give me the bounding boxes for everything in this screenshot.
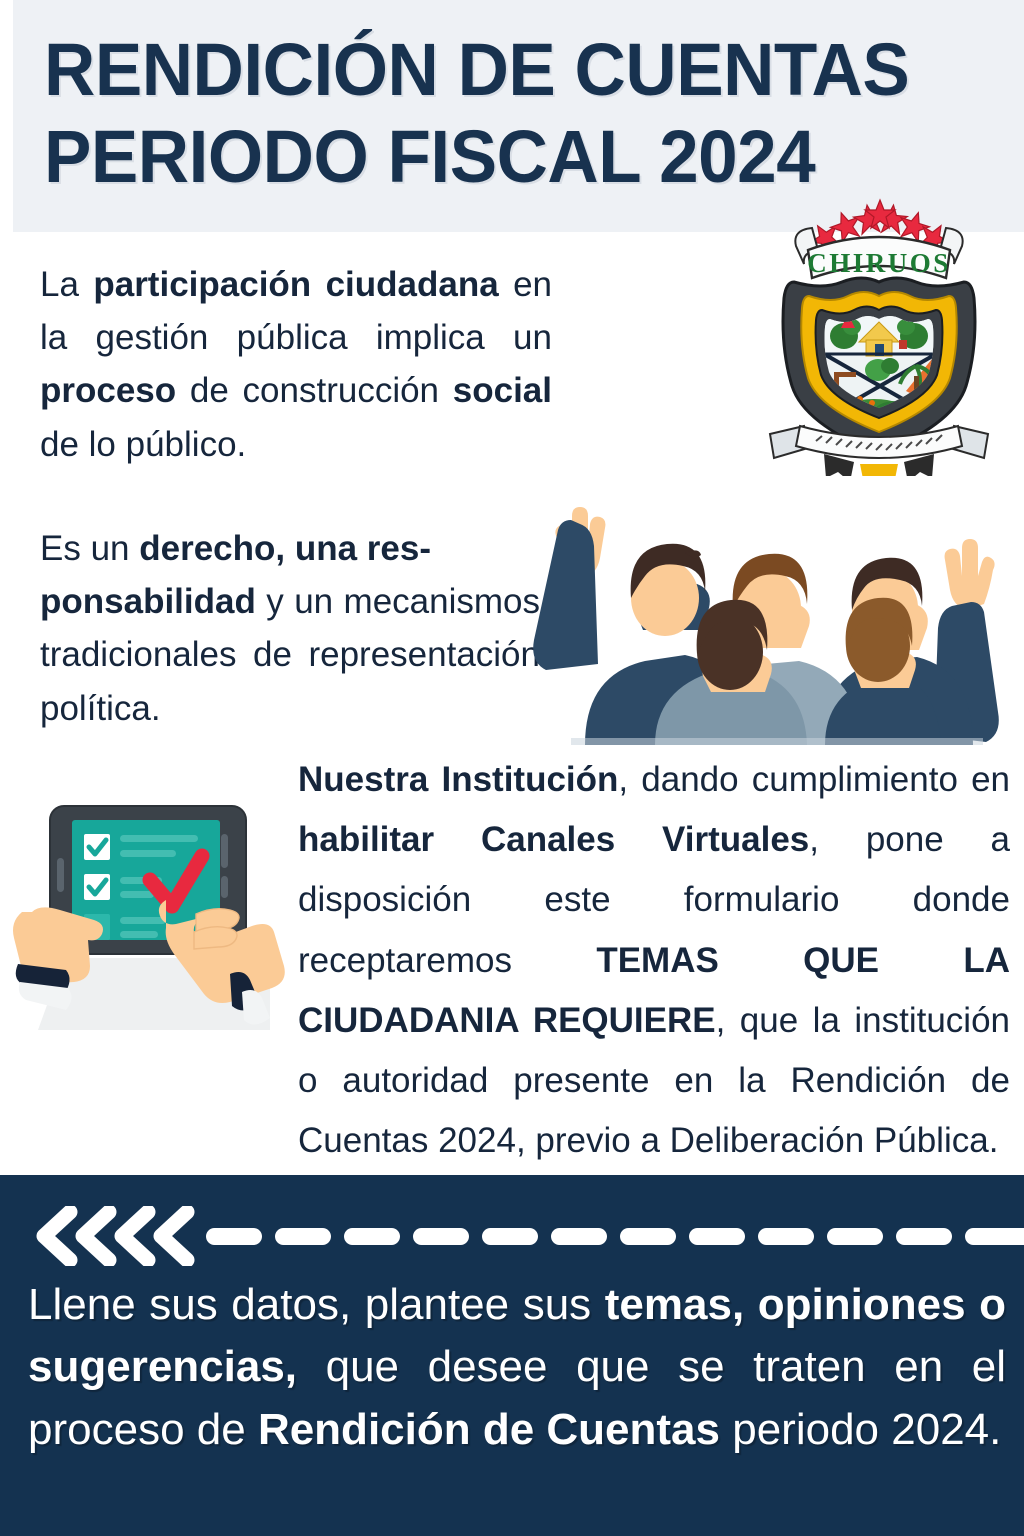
coat-of-arms-emblem: CHIRUOS [756,186,1002,476]
paragraph-participacion: La participación ciudadana en la gestión… [40,258,552,471]
emblem-motto: CHIRUOS [807,248,951,278]
footer-call-to-action: Llene sus datos, plantee sus temas, opin… [28,1274,1006,1461]
chevron-dash-divider [30,1205,998,1267]
poster-root: RENDICIÓN DE CUENTAS PERIODO FISCAL 2024… [0,0,1024,1536]
paragraph-derecho: Es un derecho, una res-ponsabilidad y un… [40,522,540,735]
title-line-1: RENDICIÓN DE CUENTAS [44,26,908,113]
paragraph-institucion: Nuestra Institución, dando cumplimiento … [298,750,1010,1171]
chevron-left-icon [147,1206,199,1266]
page-title: RENDICIÓN DE CUENTAS PERIODO FISCAL 2024 [44,26,944,201]
crowd-raising-hands-illustration [525,450,1024,745]
dashed-line [206,1228,1024,1245]
hands-tablet-checklist-illustration [8,778,294,1030]
